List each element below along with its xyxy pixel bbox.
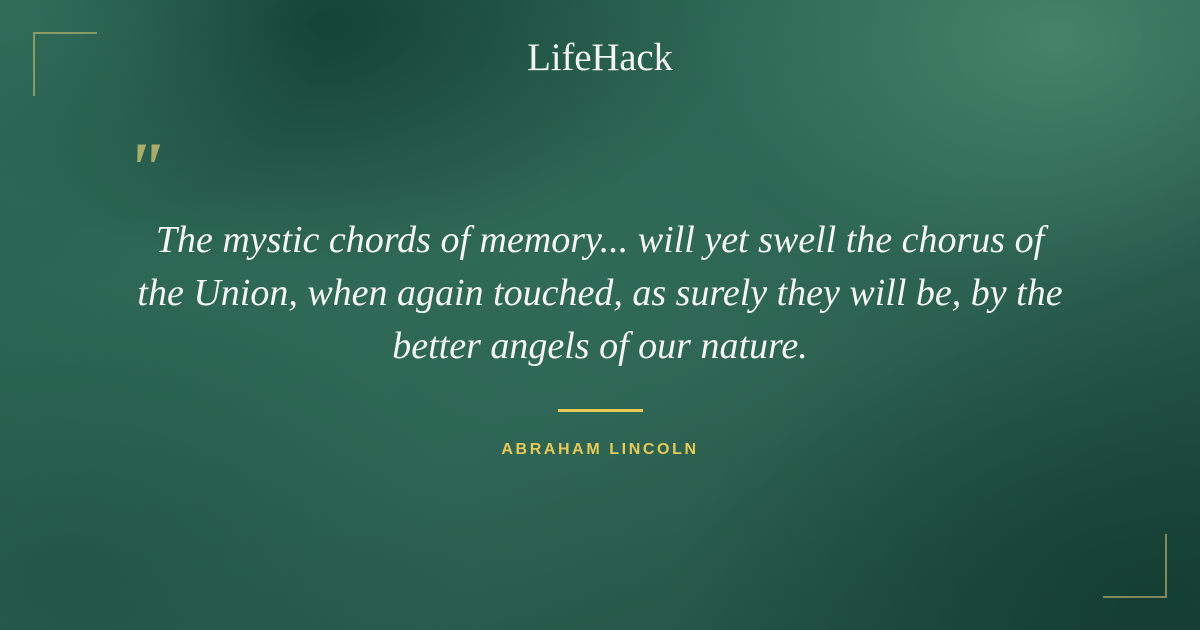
- author-name: ABRAHAM LINCOLN: [0, 440, 1200, 460]
- quote-mark-icon: ": [124, 132, 163, 206]
- author-divider: [558, 409, 643, 412]
- corner-bracket-bottom-right-icon: [1103, 534, 1167, 598]
- brand-logo: LifeHack: [0, 38, 1200, 77]
- quote-card: LifeHack " The mystic chords of memory..…: [0, 0, 1200, 630]
- quote-line: the Union, when again touched, as surely…: [78, 267, 1122, 320]
- quote-text: The mystic chords of memory... will yet …: [78, 214, 1122, 373]
- quote-line: better angels of our nature.: [78, 320, 1122, 373]
- quote-line: The mystic chords of memory... will yet …: [78, 214, 1122, 267]
